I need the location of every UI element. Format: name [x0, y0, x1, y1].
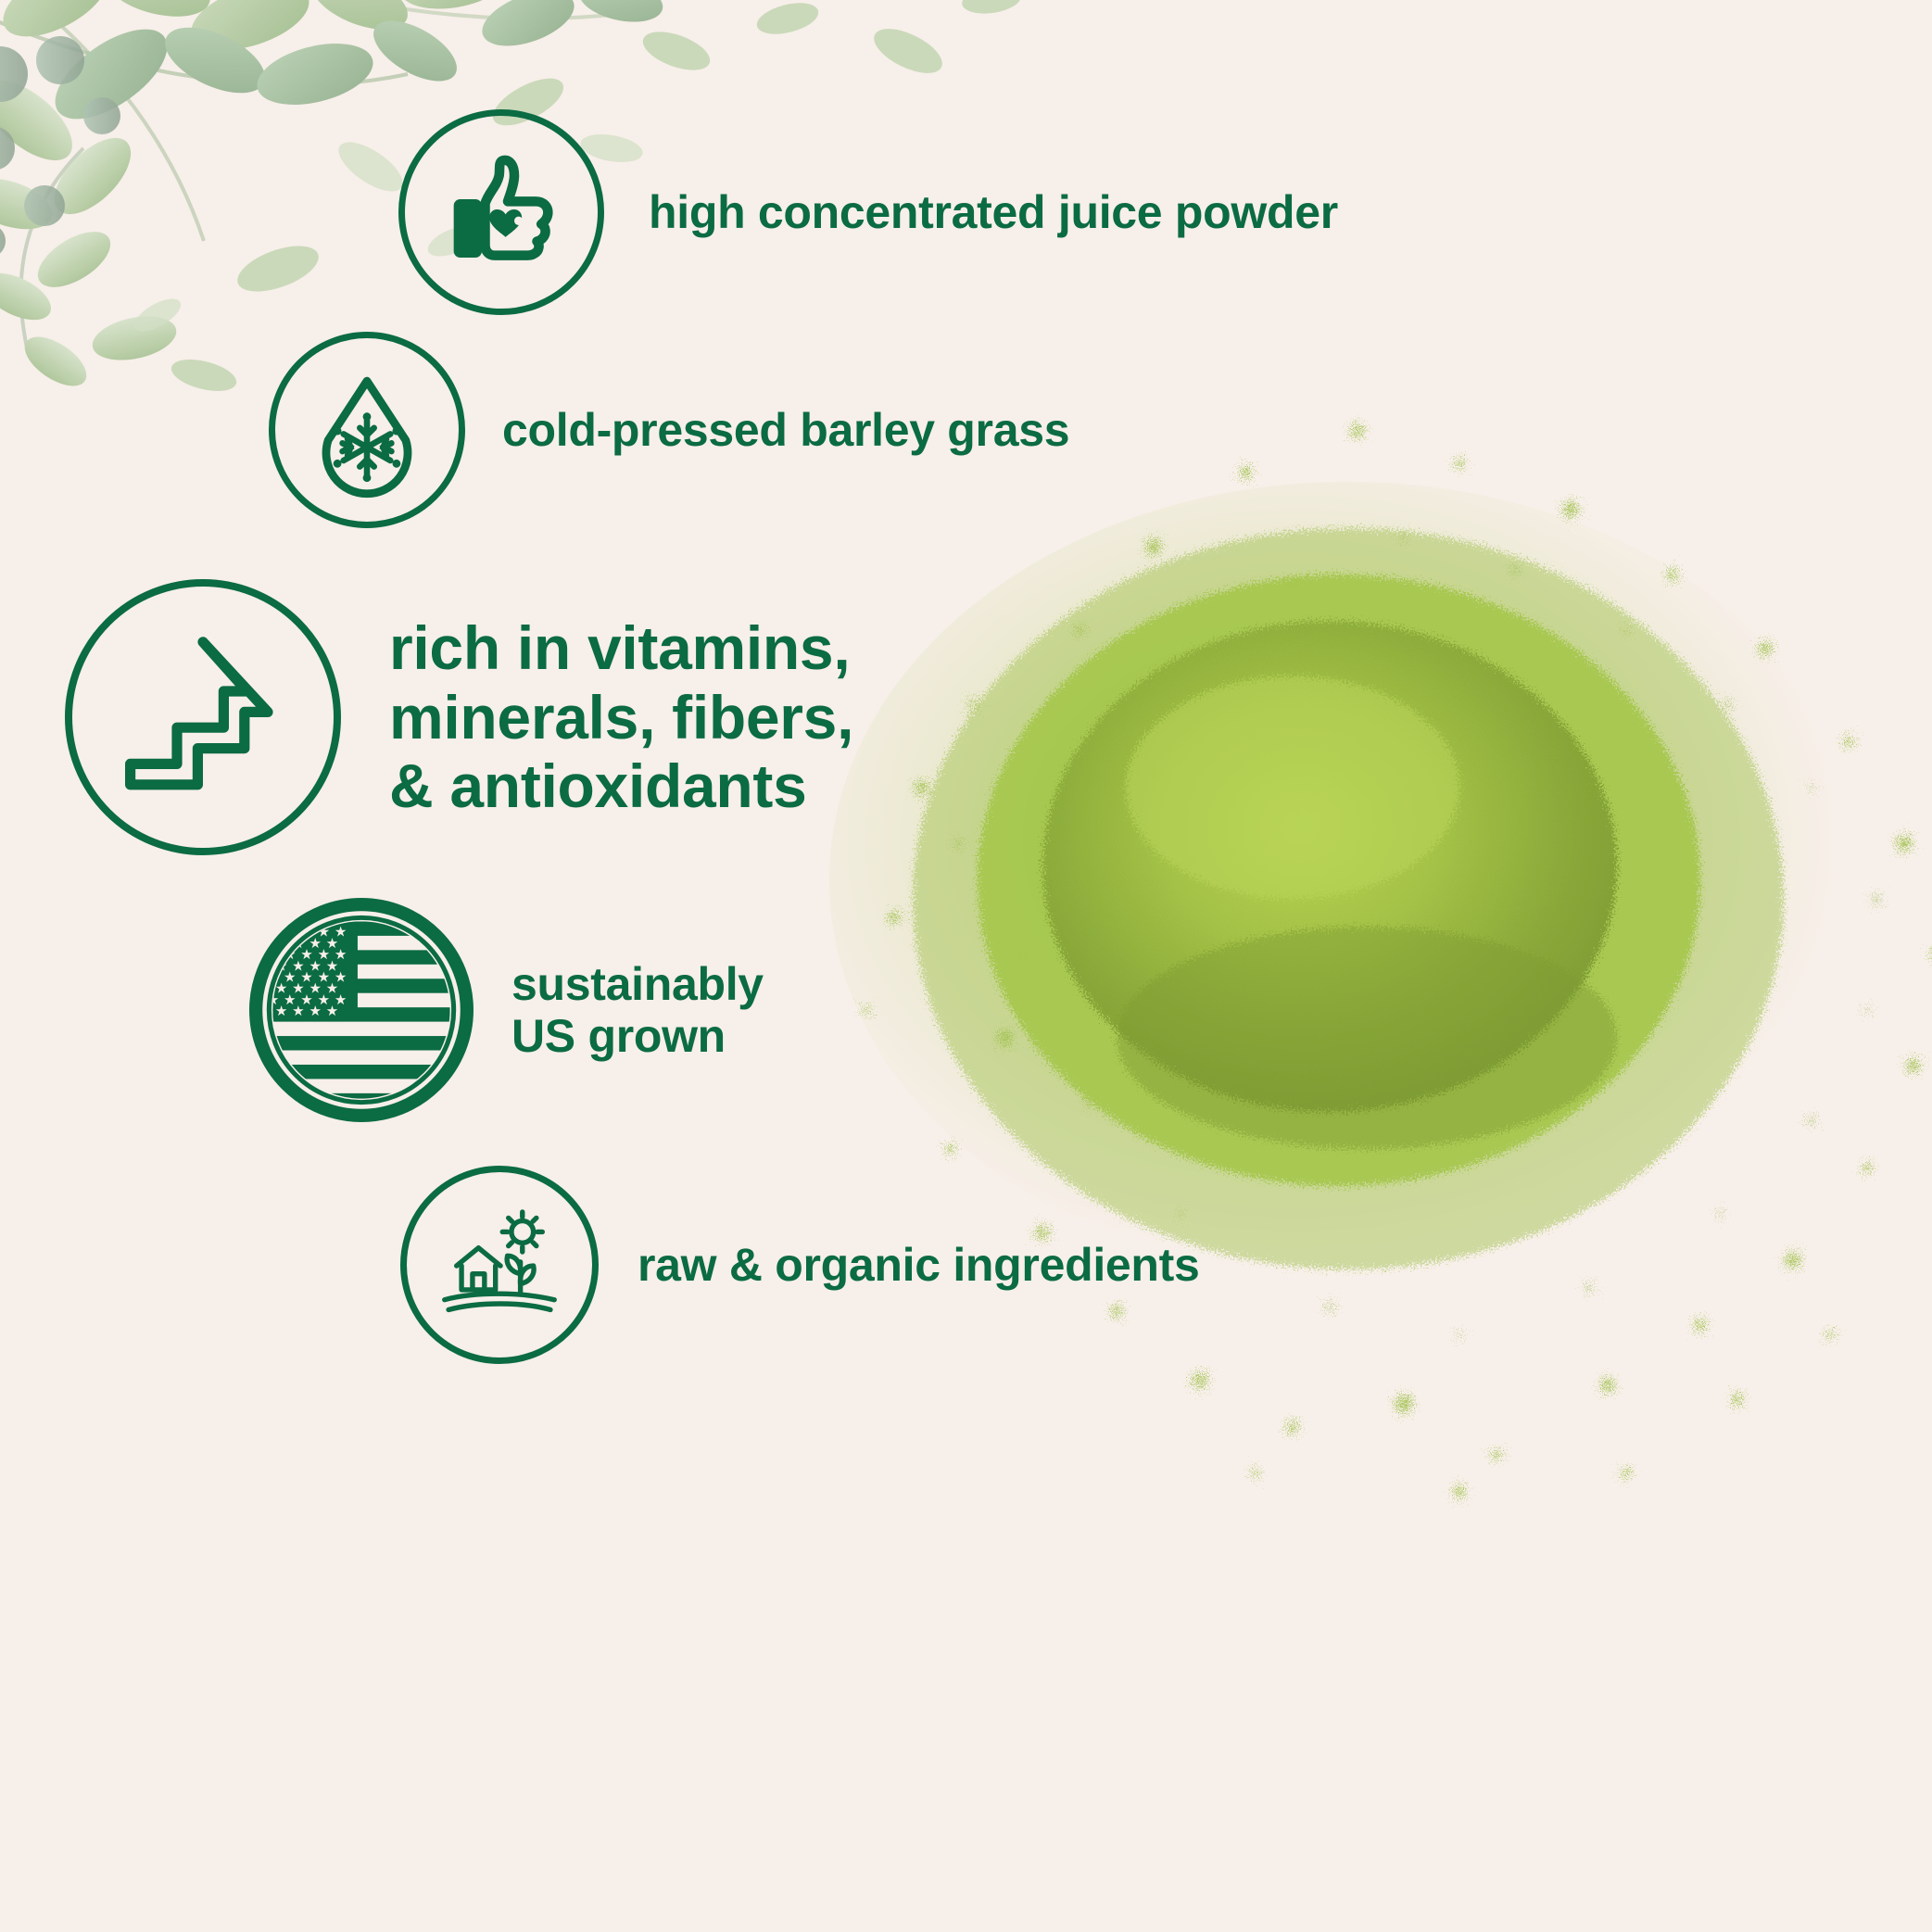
feature-item-us-grown[interactable]: ★★★★★ ★★★★ ★★★★★ ★★★★ ★★★★★ ★★★★ ★★★★★ ★… — [248, 897, 764, 1123]
feature-item-raw-organic[interactable]: raw & organic ingredients — [400, 1166, 1200, 1364]
feature-item-high-concentrated[interactable]: high concentrated juice powder — [398, 109, 1338, 315]
svg-text:★: ★ — [309, 1003, 321, 1019]
feature-label: cold-pressed barley grass — [502, 404, 1069, 456]
zigzag-up-arrow-icon — [112, 626, 294, 808]
thumbs-up-heart-icon — [436, 147, 566, 277]
feature-item-rich-in-vitamins[interactable]: rich in vitamins, minerals, fibers, & an… — [65, 579, 853, 855]
svg-text:★: ★ — [326, 1003, 338, 1019]
feature-icon-circle — [269, 332, 465, 528]
feature-icon-circle: ★★★★★ ★★★★ ★★★★★ ★★★★ ★★★★★ ★★★★ ★★★★★ ★… — [248, 897, 474, 1123]
feature-icon-circle — [400, 1166, 599, 1364]
svg-text:★: ★ — [292, 1003, 304, 1019]
feature-icon-circle — [65, 579, 341, 855]
feature-label: rich in vitamins, minerals, fibers, & an… — [389, 613, 853, 821]
feature-list: high concentrated juice powder — [0, 0, 1344, 1932]
droplet-snowflake-icon — [306, 369, 428, 491]
us-flag-badge-icon: ★★★★★ ★★★★ ★★★★★ ★★★★ ★★★★★ ★★★★ ★★★★★ ★… — [248, 897, 474, 1123]
feature-label: sustainably US grown — [511, 958, 764, 1062]
feature-label: raw & organic ingredients — [638, 1239, 1200, 1291]
feature-item-cold-pressed[interactable]: cold-pressed barley grass — [269, 332, 1069, 528]
farm-sun-plant-icon — [435, 1200, 564, 1330]
feature-icon-circle — [398, 109, 604, 315]
infographic-canvas: high concentrated juice powder — [0, 0, 1932, 1932]
feature-label: high concentrated juice powder — [649, 186, 1338, 238]
svg-text:★: ★ — [275, 1003, 287, 1019]
